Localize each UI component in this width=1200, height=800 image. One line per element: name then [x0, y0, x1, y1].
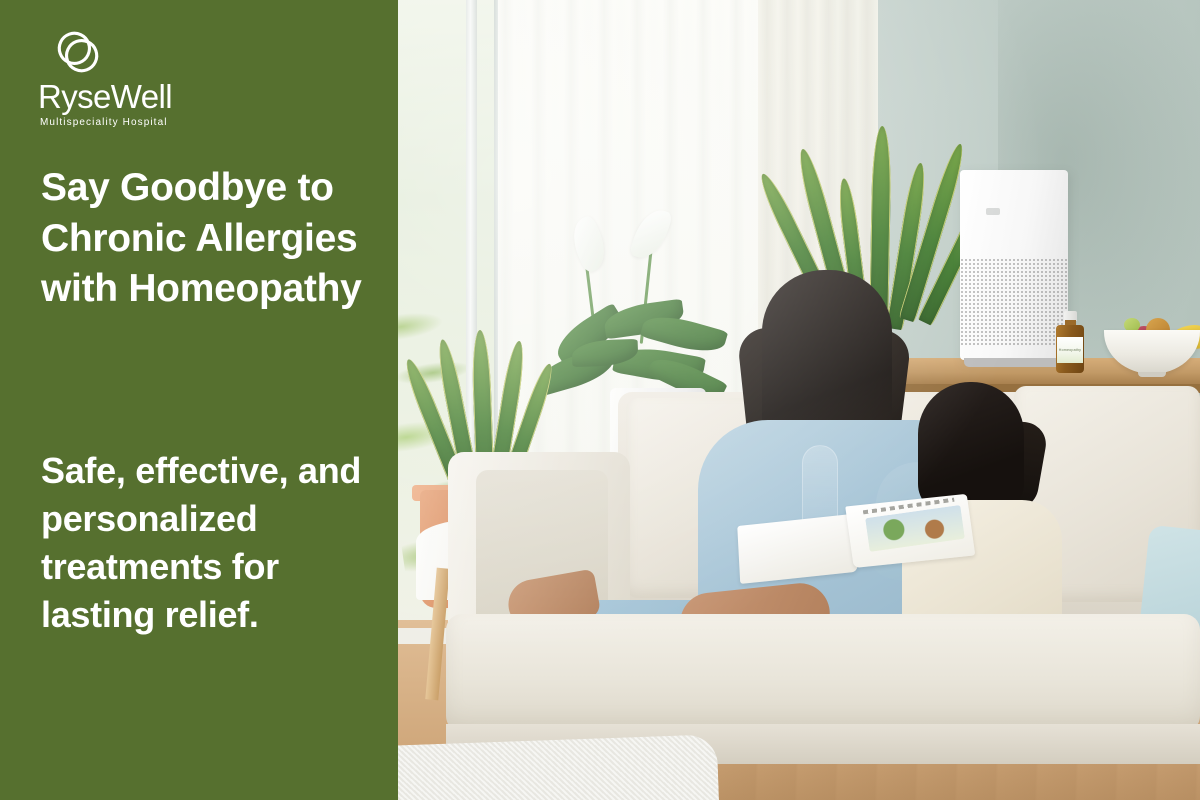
sofa-seat-cushion — [446, 614, 1200, 732]
promotional-banner: RyseWell Multispeciality Hospital Say Go… — [0, 0, 1200, 800]
lifestyle-photo: Homeopathy — [398, 0, 1200, 800]
brand-name: RyseWell — [38, 80, 220, 115]
fruit-bowl-foot — [1138, 372, 1166, 377]
brand-lockup: RyseWell Multispeciality Hospital — [20, 26, 220, 128]
left-text-panel: RyseWell Multispeciality Hospital Say Go… — [0, 0, 398, 800]
child-hair-top — [918, 382, 1024, 514]
textured-rug — [398, 734, 719, 800]
homeopathy-bottle: Homeopathy — [1055, 311, 1085, 373]
four-petal-clover-icon — [52, 26, 104, 78]
book-left-page — [737, 514, 858, 584]
bottle-label: Homeopathy — [1057, 337, 1083, 363]
brand-tagline: Multispeciality Hospital — [40, 117, 220, 128]
subheadline: Safe, effective, and personalized treatm… — [41, 447, 371, 639]
headline: Say Goodbye to Chronic Allergies with Ho… — [41, 163, 371, 315]
photo-scene: Homeopathy — [398, 0, 1200, 800]
air-purifier-indicator — [986, 208, 1000, 215]
